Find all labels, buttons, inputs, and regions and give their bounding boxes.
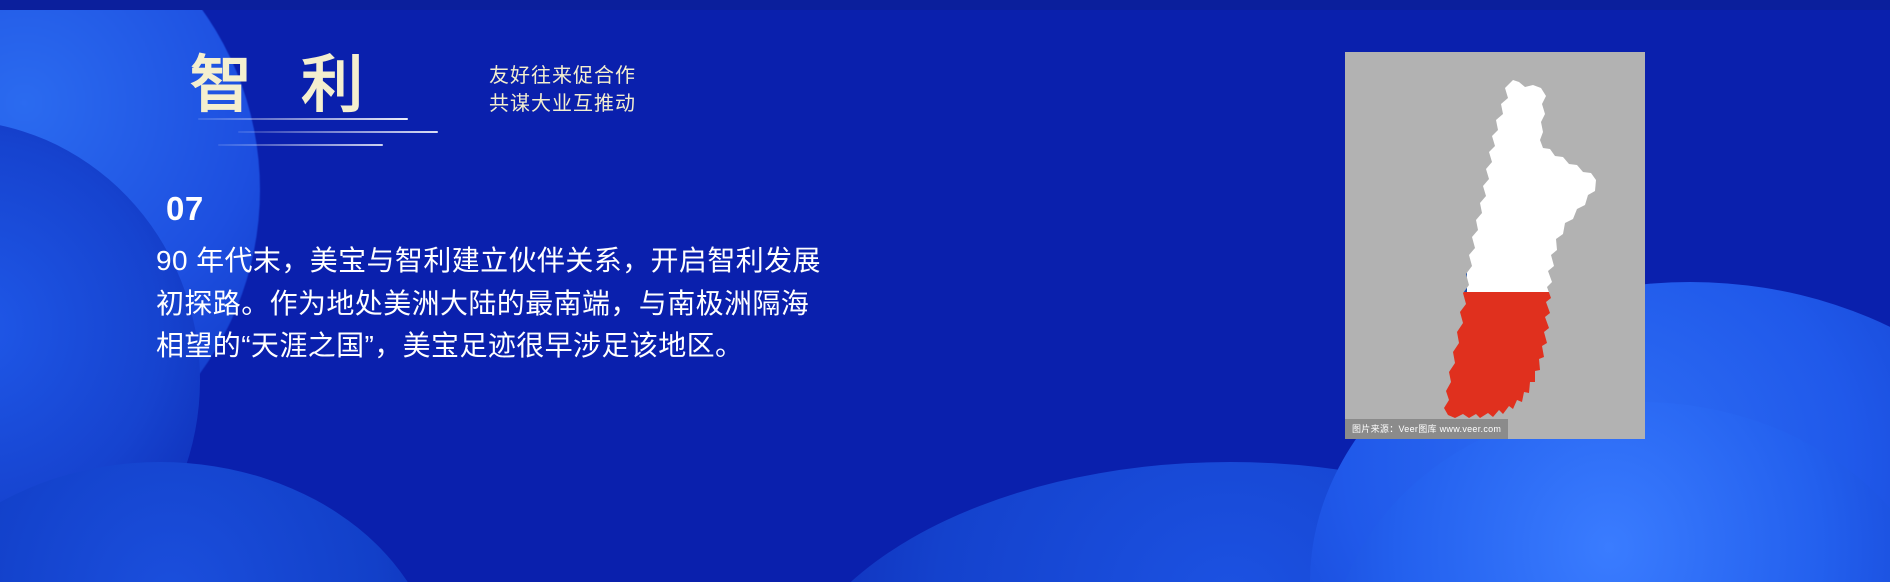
subtitle-line-2: 共谋大业互推动 xyxy=(489,90,636,118)
title-rule-1 xyxy=(198,118,408,120)
title-underline-group xyxy=(170,118,470,157)
chile-map-photo: 图片来源：Veer图库 www.veer.com xyxy=(1345,52,1645,439)
top-strip xyxy=(0,0,1890,10)
subtitle-line-1: 友好往来促合作 xyxy=(489,62,636,90)
title-rule-3 xyxy=(218,144,383,146)
chile-flag-map-icon xyxy=(1345,52,1645,439)
decorative-blob-bottom-center xyxy=(780,462,1680,582)
paragraph-line-1: 90 年代末，美宝与智利建立伙伴关系，开启智利发展 xyxy=(156,240,916,283)
title-rule-2 xyxy=(238,131,438,133)
section-paragraph: 90 年代末，美宝与智利建立伙伴关系，开启智利发展 初探路。作为地处美洲大陆的最… xyxy=(156,240,916,368)
paragraph-line-2: 初探路。作为地处美洲大陆的最南端，与南极洲隔海 xyxy=(156,283,916,326)
page-title: 智 利 xyxy=(190,55,379,117)
paragraph-line-3: 相望的“天涯之国”，美宝足迹很早涉足该地区。 xyxy=(156,325,916,368)
image-credit-watermark: 图片来源：Veer图库 www.veer.com xyxy=(1345,419,1508,439)
top-strip-left-segment xyxy=(0,0,205,10)
slide-root: 智 利 友好往来促合作 共谋大业互推动 07 90 年代末，美宝与智利建立伙伴关… xyxy=(0,0,1890,582)
subtitle-block: 友好往来促合作 共谋大业互推动 xyxy=(489,62,636,119)
decorative-blob-bottom-left xyxy=(0,462,440,582)
section-number: 07 xyxy=(166,190,204,228)
